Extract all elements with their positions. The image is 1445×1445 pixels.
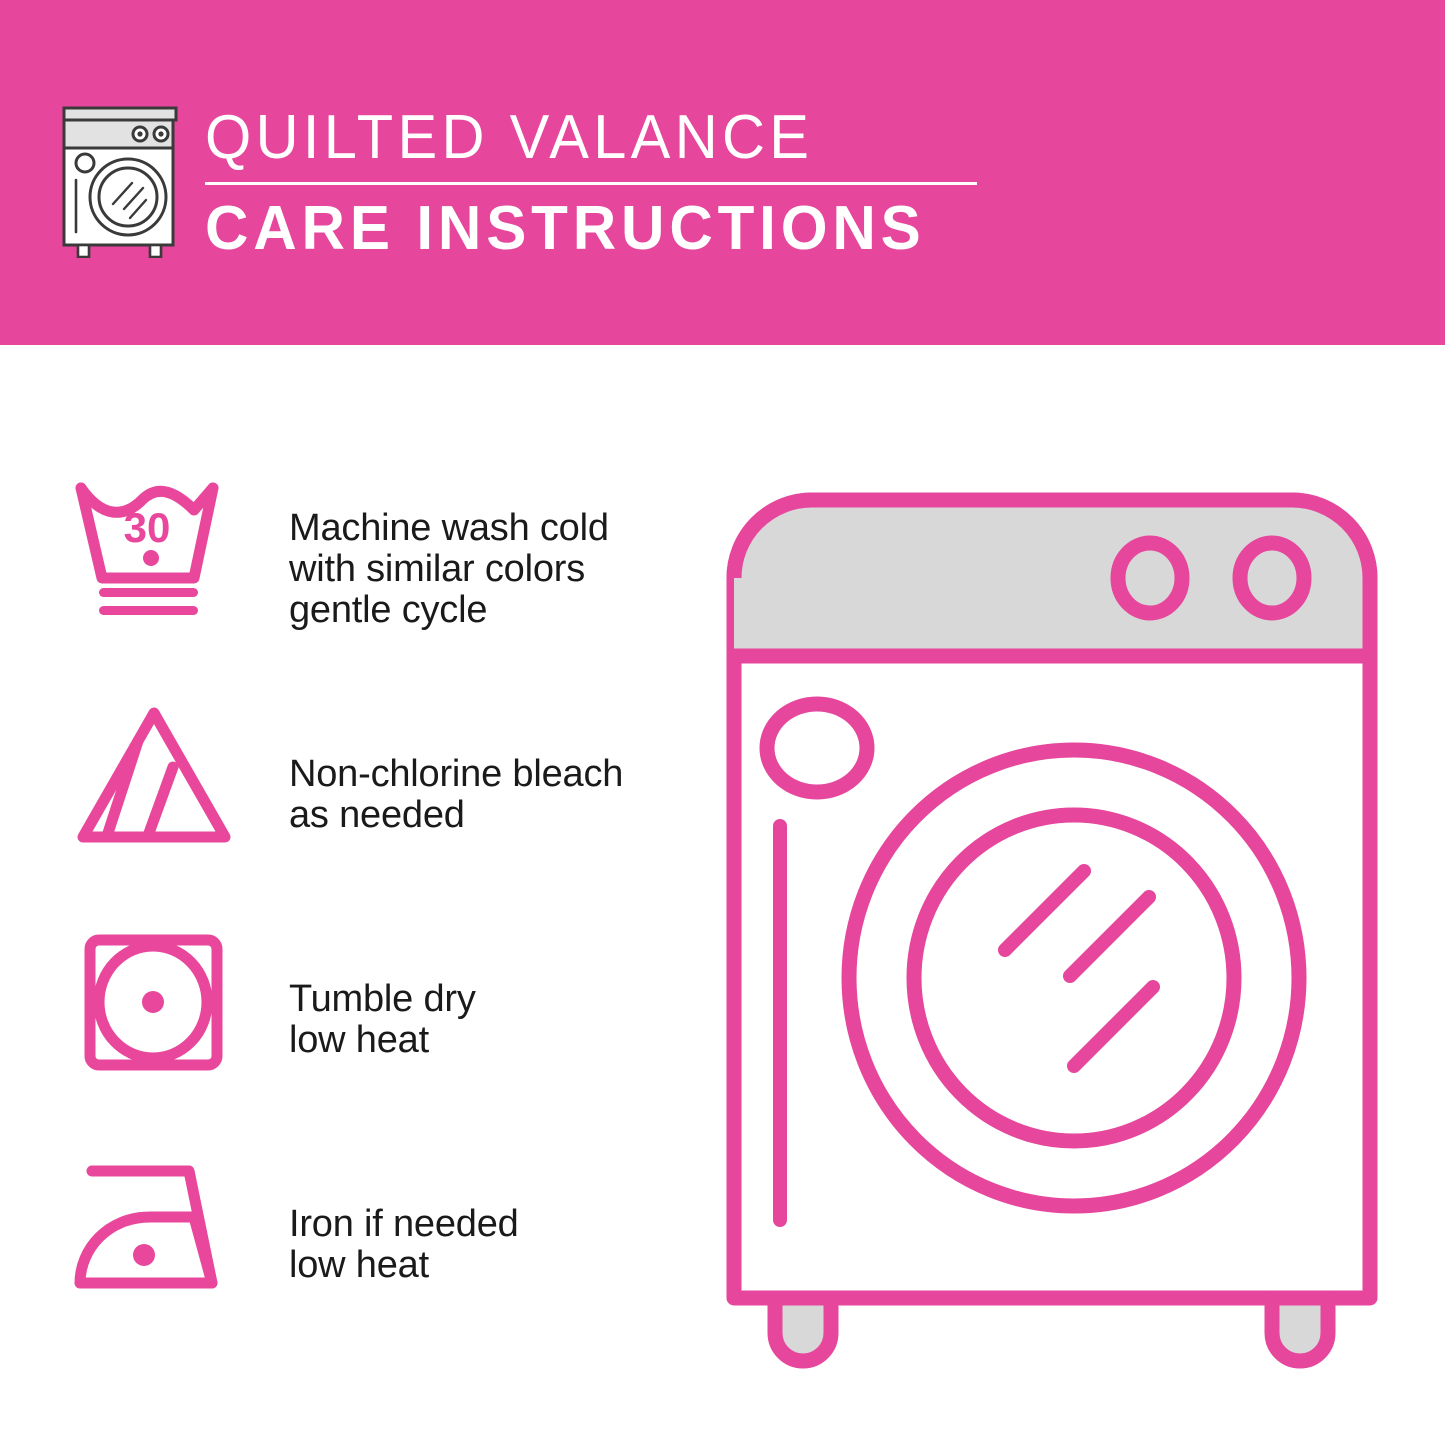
front-load-washing-machine-illustration	[712, 478, 1392, 1378]
care-instructions-infographic: QUILTED VALANCE CARE INSTRUCTIONS 30 Mac…	[0, 0, 1445, 1445]
control-panel	[734, 500, 1370, 656]
care-row-bleach: Non-chlorine bleach as needed	[0, 695, 660, 920]
care-row-tumble-dry: Tumble dry low heat	[0, 920, 660, 1145]
header-text-block: QUILTED VALANCE CARE INSTRUCTIONS	[205, 103, 995, 263]
leg-left	[775, 1298, 831, 1361]
washing-machine-logo-icon	[58, 100, 184, 258]
page-title: QUILTED VALANCE	[205, 103, 963, 173]
wash-temp-label: 30	[124, 504, 171, 551]
care-text-bleach: Non-chlorine bleach as needed	[289, 754, 623, 836]
care-text-wash: Machine wash cold with similar colors ge…	[289, 508, 609, 631]
care-row-wash: 30 Machine wash cold with similar colors…	[0, 470, 660, 695]
wash-tub-30-gentle-icon: 30	[72, 470, 237, 635]
care-instruction-list: 30 Machine wash cold with similar colors…	[0, 470, 660, 1370]
tumble-dry-low-heat-icon	[72, 920, 237, 1085]
iron-low-heat-icon	[72, 1145, 237, 1310]
page-subtitle: CARE INSTRUCTIONS	[205, 195, 971, 263]
care-text-iron: Iron if needed low heat	[289, 1204, 519, 1286]
header-banner: QUILTED VALANCE CARE INSTRUCTIONS	[0, 0, 1445, 345]
leg-right	[1272, 1298, 1328, 1361]
title-divider	[205, 182, 977, 185]
care-row-iron: Iron if needed low heat	[0, 1145, 660, 1370]
triangle-non-chlorine-bleach-icon	[72, 695, 237, 860]
care-text-tumble-dry: Tumble dry low heat	[289, 979, 476, 1061]
